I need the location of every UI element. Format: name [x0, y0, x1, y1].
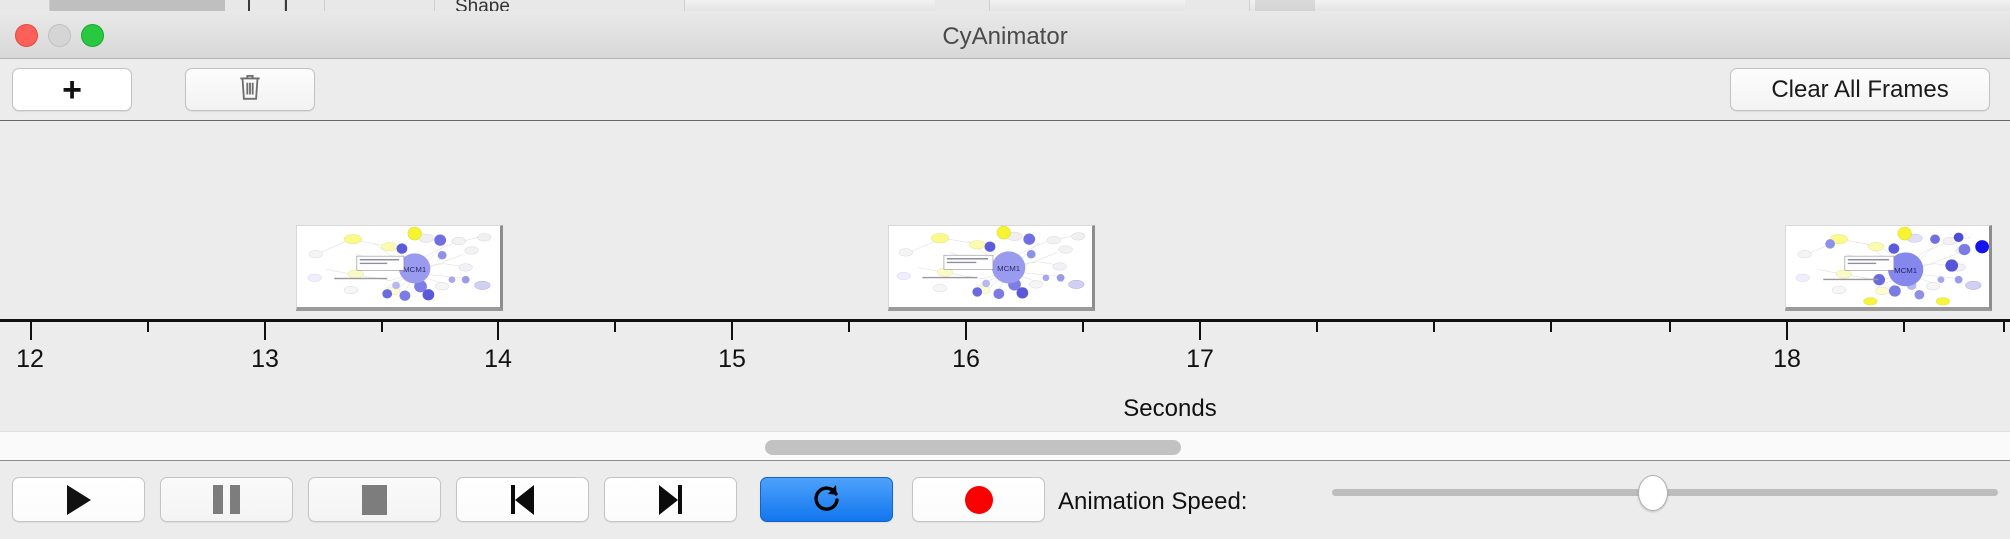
axis-label: 13: [251, 345, 279, 374]
axis-tick-major: [497, 322, 499, 340]
axis-tick-minor: [1433, 322, 1435, 332]
window-title: CyAnimator: [0, 23, 2010, 51]
axis-tick-major: [1199, 322, 1201, 340]
axis-tick-major: [965, 322, 967, 340]
axis-label: 16: [952, 345, 980, 374]
skip-forward-icon: [659, 485, 682, 515]
axis-tick-major: [731, 322, 733, 340]
axis-tick-minor: [2003, 322, 2005, 332]
animation-speed-slider-thumb[interactable]: [1638, 475, 1668, 511]
axis-tick-major: [30, 322, 32, 340]
axis-tick-minor: [614, 322, 616, 332]
frame-thumbnail-2[interactable]: MCM1: [888, 225, 1095, 311]
axis-label: 12: [16, 345, 44, 374]
timeline-axis: [0, 319, 2010, 322]
axis-tick-major: [1786, 322, 1788, 340]
axis-label: 17: [1186, 345, 1214, 374]
loop-button[interactable]: [760, 477, 893, 522]
window-titlebar: CyAnimator: [0, 11, 2010, 59]
playback-control-bar: Animation Speed:: [0, 461, 2010, 539]
scrollbar-thumb[interactable]: [765, 440, 1181, 455]
record-icon: [965, 486, 993, 514]
pause-button[interactable]: [160, 477, 293, 522]
svg-text:MCM1: MCM1: [1894, 266, 1917, 275]
axis-tick-minor: [1903, 322, 1905, 332]
loop-icon: [811, 481, 843, 518]
axis-tick-minor: [147, 322, 149, 332]
axis-label: 18: [1773, 345, 1801, 374]
stop-icon: [362, 485, 387, 515]
axis-tick-minor: [1082, 322, 1084, 332]
animation-speed-label: Animation Speed:: [1058, 488, 1247, 516]
play-icon: [67, 485, 91, 515]
frame-thumbnail-1[interactable]: MCM1: [296, 225, 503, 311]
svg-text:MCM1: MCM1: [403, 265, 426, 274]
axis-title: Seconds: [1123, 395, 1216, 423]
delete-frame-button[interactable]: [185, 68, 315, 111]
trash-icon: [237, 72, 263, 107]
frame-thumbnail-3[interactable]: MCM1: [1785, 225, 1992, 311]
cyanimator-window: CyAnimator + Clear All Frames: [0, 11, 2010, 510]
svg-text:MCM1: MCM1: [997, 264, 1020, 273]
clear-all-frames-label: Clear All Frames: [1771, 76, 1948, 104]
axis-tick-major: [264, 322, 266, 340]
skip-start-button[interactable]: [456, 477, 589, 522]
axis-label: 14: [484, 345, 512, 374]
timeline-panel[interactable]: MCM1: [0, 121, 2010, 431]
add-frame-button[interactable]: +: [12, 68, 132, 111]
axis-tick-minor: [1550, 322, 1552, 332]
plus-icon: +: [62, 73, 82, 107]
axis-tick-minor: [1669, 322, 1671, 332]
scrollbar-track[interactable]: [0, 431, 2010, 461]
clear-all-frames-button[interactable]: Clear All Frames: [1730, 68, 1990, 111]
play-button[interactable]: [12, 477, 145, 522]
skip-back-icon: [511, 485, 534, 515]
axis-tick-minor: [848, 322, 850, 332]
record-button[interactable]: [912, 477, 1045, 522]
skip-end-button[interactable]: [604, 477, 737, 522]
axis-tick-minor: [1316, 322, 1318, 332]
axis-tick-minor: [381, 322, 383, 332]
frame-toolbar: + Clear All Frames: [0, 59, 2010, 121]
axis-label: 15: [718, 345, 746, 374]
stop-button[interactable]: [308, 477, 441, 522]
